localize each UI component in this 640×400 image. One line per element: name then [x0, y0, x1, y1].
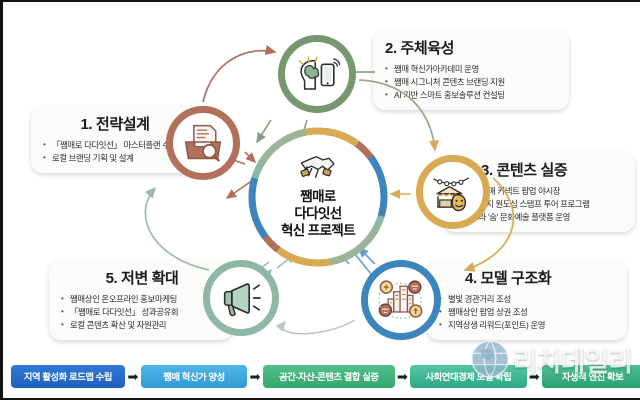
flow-step-label: 지역 활성화 로드맵 수립: [24, 369, 112, 383]
flow-step-label: 사회연대경제 모델 확립: [425, 369, 511, 383]
flow-arrow-icon: ➡: [395, 354, 411, 398]
flow-step-label: 자생적 엔진 확보: [562, 369, 623, 383]
center-title-line2: 다다잇선: [281, 206, 355, 223]
flow-step-5[interactable]: 자생적 엔진 확보: [542, 365, 640, 388]
brain-smartphone-icon: [294, 53, 340, 95]
icon-bubble-strategy: [166, 106, 240, 180]
center-title-line1: 쨈매로: [281, 189, 355, 206]
infographic-canvas: 쨈매로 다다잇선 혁신 프로젝트: [0, 0, 640, 400]
flow-arrow-icon: ➡: [247, 354, 263, 398]
flow-step-3[interactable]: 공간-자산-콘텐츠 결합 실증: [263, 365, 395, 388]
flow-arrow-icon: ➡: [527, 354, 543, 398]
flow-step-2[interactable]: 쨈매 혁신가 양성: [141, 365, 248, 388]
market-tent-mask-icon: [430, 171, 476, 213]
flow-step-label: 쨈매 혁신가 양성: [163, 369, 224, 383]
file-box-search-icon: [181, 122, 225, 164]
flow-step-1[interactable]: 지역 활성화 로드맵 수립: [11, 365, 125, 388]
icon-bubble-content: [416, 155, 490, 229]
cityscape-coins-icon: [376, 277, 426, 323]
megaphone-icon: [219, 278, 263, 318]
flow-step-4[interactable]: 사회연대경제 모델 확립: [410, 365, 526, 388]
center-hub: 쨈매로 다다잇선 혁신 프로젝트: [251, 130, 385, 264]
flow-step-label: 공간-자산-콘텐츠 결합 실증: [279, 369, 378, 383]
handshake-icon: [299, 154, 337, 185]
center-title-line3: 혁신 프로젝트: [281, 223, 355, 240]
process-flow-bar: 지역 활성화 로드맵 수립 ➡ 쨈매 혁신가 양성 ➡ 공간-자산-콘텐츠 결합…: [3, 354, 640, 398]
icon-bubble-capacity: [278, 35, 356, 113]
flow-arrow-icon: ➡: [125, 354, 141, 398]
center-title: 쨈매로 다다잇선 혁신 프로젝트: [281, 189, 355, 239]
